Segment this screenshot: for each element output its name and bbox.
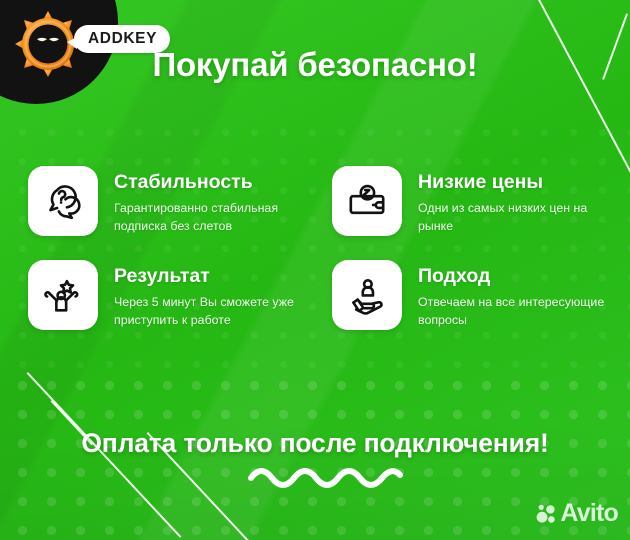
avito-dots-logo-icon (535, 503, 557, 525)
page-title: Покупай безопасно! (0, 46, 630, 84)
feature-text-block: Результат Через 5 минут Вы сможете уже п… (98, 260, 304, 330)
promo-banner: ADDKEY Покупай безопасно! Стабильность Г… (0, 0, 630, 540)
feature-description: Гарантированно стабильная подписка без с… (114, 200, 304, 235)
feature-description: Одни из самых низких цен на рынке (418, 200, 608, 235)
feature-item-approach: Подход Отвечаем на все интересующие вопр… (332, 260, 608, 330)
feature-title: Подход (418, 266, 608, 287)
person-arms-up-star-icon (28, 260, 98, 330)
feature-description: Отвечаем на все интересующие вопросы (418, 294, 608, 329)
feature-text-block: Подход Отвечаем на все интересующие вопр… (402, 260, 608, 330)
feature-description: Через 5 минут Вы сможете уже приступить … (114, 294, 304, 329)
feature-item-stability: Стабильность Гарантированно стабильная п… (28, 166, 304, 236)
feature-title: Низкие цены (418, 172, 608, 193)
footer-headline: Оплата только после подключения! (0, 428, 630, 459)
hand-holding-person-icon (332, 260, 402, 330)
avito-watermark-label: Avito (560, 499, 618, 528)
wallet-coin-icon (332, 166, 402, 236)
wavy-squiggle-icon (248, 462, 413, 492)
avito-watermark: Avito (535, 499, 618, 528)
feature-text-block: Низкие цены Одни из самых низких цен на … (402, 166, 608, 236)
feature-item-low-prices: Низкие цены Одни из самых низких цен на … (332, 166, 608, 236)
chat-bubbles-question-icon (28, 166, 98, 236)
feature-grid: Стабильность Гарантированно стабильная п… (28, 166, 608, 330)
feature-text-block: Стабильность Гарантированно стабильная п… (98, 166, 304, 236)
feature-item-result: Результат Через 5 минут Вы сможете уже п… (28, 260, 304, 330)
feature-title: Стабильность (114, 172, 304, 193)
feature-title: Результат (114, 266, 304, 287)
